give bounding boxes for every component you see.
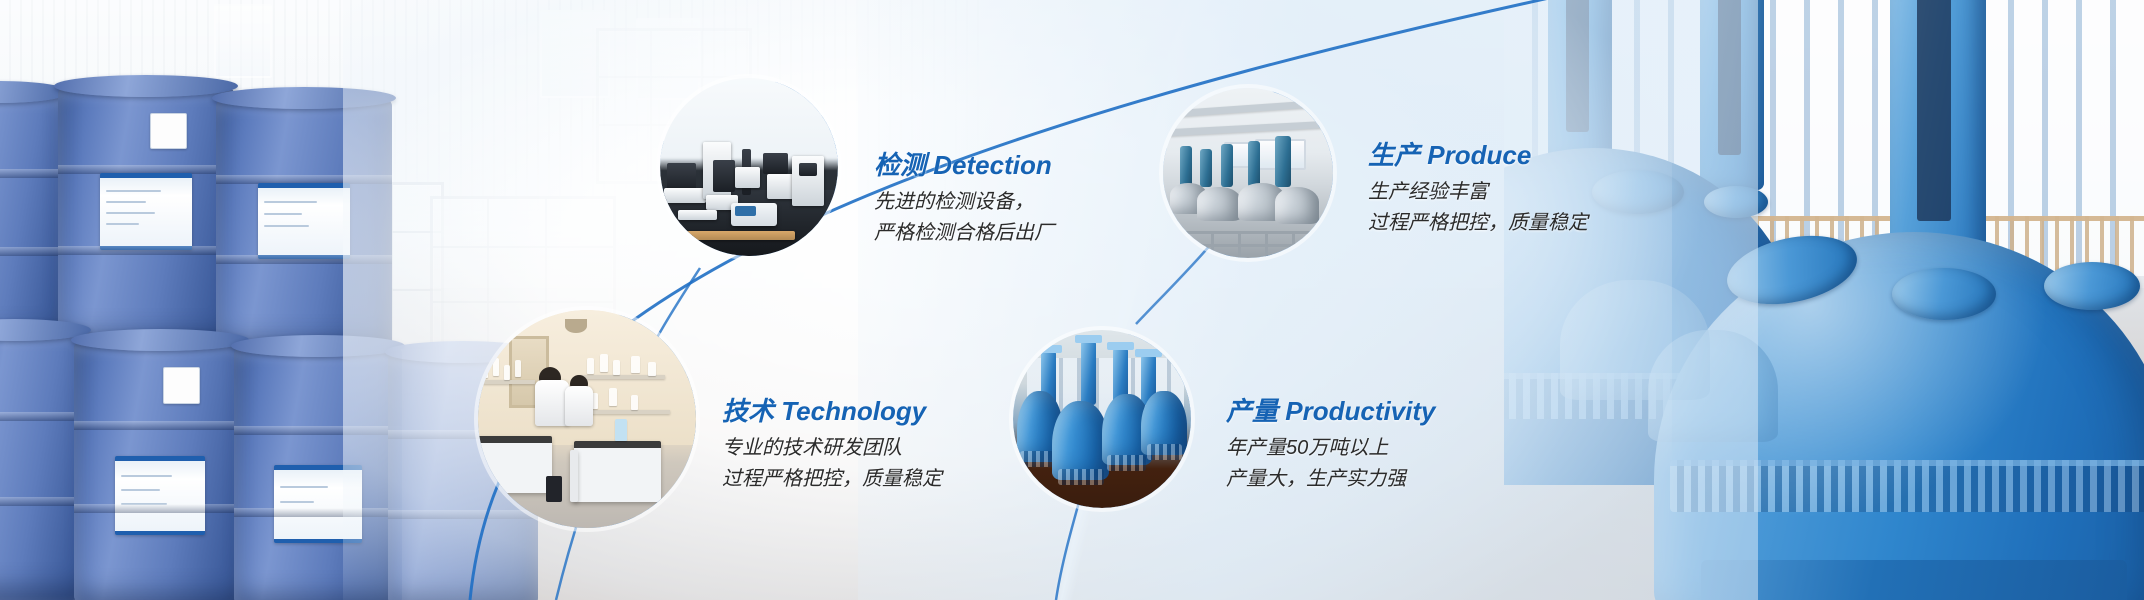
feature-title-en: Detection — [933, 150, 1051, 180]
feature-title-cn: 技术 — [722, 396, 774, 426]
produce-photo — [1163, 88, 1333, 258]
feature-text-technology: 技术 Technology 专业的技术研发团队 过程严格把控，质量稳定 — [722, 396, 942, 494]
feature-line-1: 先进的检测设备， — [874, 187, 1054, 217]
feature-photo-productivity[interactable] — [1013, 330, 1191, 508]
chemical-drum — [74, 338, 246, 600]
feature-text-produce: 生产 Produce 生产经验丰富 过程严格把控，质量稳定 — [1368, 140, 1588, 238]
feature-line-2: 过程严格把控，质量稳定 — [722, 464, 942, 494]
feature-text-detection: 检测 Detection 先进的检测设备， 严格检测合格后出厂 — [874, 150, 1054, 248]
feature-title-en: Technology — [781, 396, 926, 426]
feature-photo-produce[interactable] — [1163, 88, 1333, 258]
feature-title-cn: 检测 — [874, 150, 926, 180]
agitator-motor — [1890, 0, 1986, 260]
feature-line-1: 生产经验丰富 — [1368, 177, 1588, 207]
detection-photo — [660, 78, 838, 256]
feature-photo-detection[interactable] — [660, 78, 838, 256]
feature-title-technology: 技术 Technology — [722, 396, 942, 427]
feature-title-productivity: 产量 Productivity — [1226, 396, 1436, 427]
feature-title-en: Productivity — [1285, 396, 1435, 426]
chemical-drum — [58, 84, 234, 346]
feature-title-en: Produce — [1427, 140, 1531, 170]
feature-line-1: 专业的技术研发团队 — [722, 433, 942, 463]
feature-line-1: 年产量50万吨以上 — [1226, 433, 1436, 463]
feature-title-cn: 产量 — [1226, 396, 1278, 426]
reactor-hatch — [2044, 262, 2140, 310]
feature-title-detection: 检测 Detection — [874, 150, 1054, 181]
technology-photo — [478, 310, 696, 528]
chemical-drum — [0, 90, 66, 344]
feature-title-produce: 生产 Produce — [1368, 140, 1588, 171]
productivity-photo — [1013, 330, 1191, 508]
feature-line-2: 产量大，生产实力强 — [1226, 464, 1436, 494]
company-strengths-banner: 检测 Detection 先进的检测设备， 严格检测合格后出厂 生产 Produ… — [0, 0, 2144, 600]
feature-photo-technology[interactable] — [478, 310, 696, 528]
feature-text-productivity: 产量 Productivity 年产量50万吨以上 产量大，生产实力强 — [1226, 396, 1436, 494]
reactor-hatch — [1892, 268, 1996, 320]
feature-line-2: 严格检测合格后出厂 — [874, 218, 1054, 248]
feature-line-2: 过程严格把控，质量稳定 — [1368, 208, 1588, 238]
feature-title-cn: 生产 — [1368, 140, 1420, 170]
